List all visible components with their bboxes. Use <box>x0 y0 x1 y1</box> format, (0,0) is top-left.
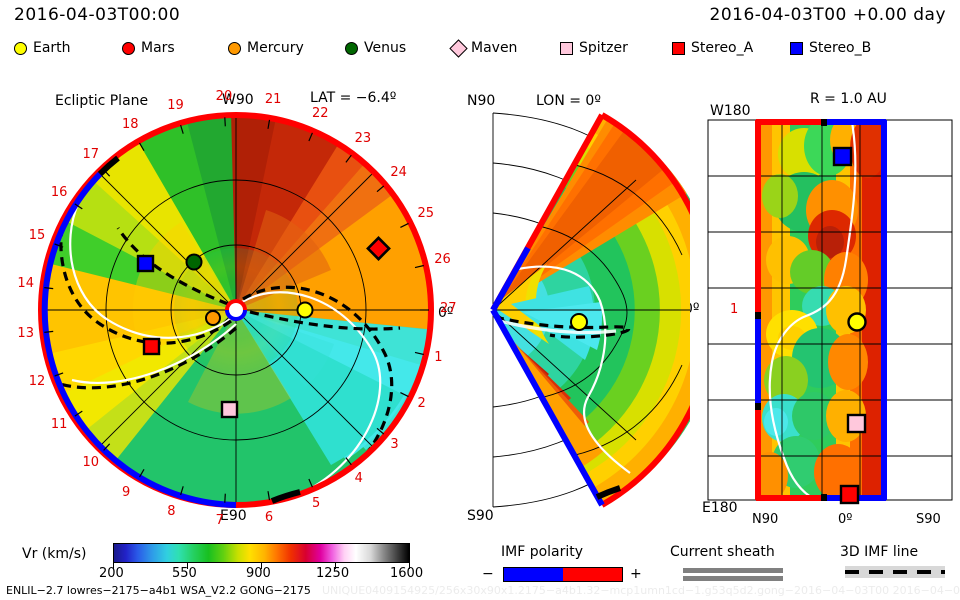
footer-watermark: UNIQUE0409154925/256x30x90x1.2175−a4b1.3… <box>322 584 960 597</box>
ecliptic-hour-label-20: 20 <box>216 89 233 104</box>
colorbar-tick-1: 550 <box>172 566 197 581</box>
spitzer-marker-icon <box>560 42 573 55</box>
imf-plus-label: + <box>630 566 642 582</box>
stereo-b-marker-icon <box>790 42 803 55</box>
header-datetime-left: 2016-04-03T00:00 <box>14 5 180 25</box>
legend-item-maven: Maven <box>452 40 517 56</box>
shell-body-spitzer <box>848 415 865 432</box>
shell-body-stereo-a <box>841 486 858 503</box>
colorbar-tick-4: 1600 <box>390 566 423 581</box>
ecliptic-hour-label-3: 3 <box>390 437 398 452</box>
legend-item-earth: Earth <box>14 40 71 56</box>
imf-polarity-title: IMF polarity <box>501 544 583 560</box>
ecliptic-hour-label-12: 12 <box>29 374 46 389</box>
ecliptic-hour-label-11: 11 <box>51 417 68 432</box>
imf-line-title: 3D IMF line <box>840 544 918 560</box>
imf-polarity-bar <box>503 567 623 582</box>
mars-marker-icon <box>122 42 135 55</box>
legend-item-mars: Mars <box>122 40 175 56</box>
imf-positive-swatch <box>563 568 622 581</box>
imf-negative-swatch <box>504 568 563 581</box>
ecliptic-hour-label-27: 27 <box>440 301 457 316</box>
legend-item-stereo-b: Stereo_B <box>790 40 871 56</box>
ecliptic-hour-label-4: 4 <box>355 471 363 486</box>
ecliptic-hour-label-23: 23 <box>355 131 372 146</box>
legend-label-stereo-b: Stereo_B <box>809 40 871 56</box>
current-sheath-title: Current sheath <box>670 544 775 560</box>
legend-label-spitzer: Spitzer <box>579 40 628 56</box>
legend-item-spitzer: Spitzer <box>560 40 628 56</box>
body-earth <box>298 303 313 318</box>
ecliptic-plane-plot <box>0 80 460 530</box>
shell-xlabel-n90: N90 <box>752 512 778 527</box>
maven-marker-icon <box>449 39 467 57</box>
ecliptic-hour-label-14: 14 <box>17 276 34 291</box>
ecliptic-hour-label-7: 7 <box>216 513 224 528</box>
ecliptic-hour-label-9: 9 <box>122 485 130 500</box>
header-datetime-right: 2016-04-03T00 +0.00 day <box>710 5 946 25</box>
mercury-marker-icon <box>228 42 241 55</box>
stereo-a-marker-icon <box>672 42 685 55</box>
imf-minus-label: − <box>482 566 494 582</box>
ecliptic-hour-label-10: 10 <box>83 455 100 470</box>
body-stereo-b <box>138 256 153 271</box>
colorbar-label: Vr (km/s) <box>22 546 86 562</box>
ecliptic-hour-label-6: 6 <box>265 510 273 525</box>
body-stereo-a <box>144 339 159 354</box>
earth-marker-icon <box>14 42 27 55</box>
legend-label-earth: Earth <box>33 40 71 56</box>
ecliptic-hour-label-21: 21 <box>265 92 282 107</box>
colorbar <box>113 543 410 563</box>
footer-model-info: ENLIL−2.7 lowres−2175−a4b1 WSA_V2.2 GONG… <box>6 584 311 597</box>
sun-marker <box>225 299 247 321</box>
ecliptic-hour-label-15: 15 <box>29 228 46 243</box>
legend-label-mars: Mars <box>141 40 175 56</box>
ecliptic-hour-label-13: 13 <box>17 326 34 341</box>
body-spitzer <box>222 402 237 417</box>
ecliptic-hour-label-16: 16 <box>51 185 68 200</box>
legend-item-stereo-a: Stereo_A <box>672 40 753 56</box>
ecliptic-hour-label-26: 26 <box>434 252 451 267</box>
shell-body-stereo-b <box>834 148 851 165</box>
shell-plot <box>700 110 960 510</box>
legend-item-venus: Venus <box>345 40 406 56</box>
shell-xlabel-zero: 0º <box>838 512 852 527</box>
shell-xlabel-s90: S90 <box>916 512 941 527</box>
imf-line-swatch <box>845 566 945 578</box>
ecliptic-hour-label-22: 22 <box>312 106 329 121</box>
body-mercury <box>206 311 220 325</box>
meridional-heatmap-field <box>480 105 690 515</box>
shell-body-earth <box>849 314 866 331</box>
legend-label-mercury: Mercury <box>247 40 304 56</box>
colorbar-tick-0: 200 <box>99 566 124 581</box>
ecliptic-hour-label-8: 8 <box>167 504 175 519</box>
colorbar-tick-2: 900 <box>246 566 271 581</box>
ecliptic-hour-label-2: 2 <box>417 396 425 411</box>
ecliptic-hour-label-1: 1 <box>434 350 442 365</box>
ecliptic-hour-label-24: 24 <box>390 165 407 180</box>
legend-label-venus: Venus <box>364 40 406 56</box>
shell-heatmap-field <box>752 114 886 500</box>
ecliptic-hour-label-19: 19 <box>167 98 184 113</box>
ecliptic-hour-label-25: 25 <box>417 206 434 221</box>
shell-title: R = 1.0 AU <box>810 91 887 107</box>
current-sheath-swatch <box>683 568 783 581</box>
venus-marker-icon <box>345 42 358 55</box>
colorbar-tick-3: 1250 <box>316 566 349 581</box>
ecliptic-hour-label-5: 5 <box>312 496 320 511</box>
legend-label-stereo-a: Stereo_A <box>691 40 753 56</box>
body-venus <box>187 255 202 270</box>
ecliptic-hour-label-17: 17 <box>83 147 100 162</box>
legend-item-mercury: Mercury <box>228 40 304 56</box>
meridional-body-earth <box>571 314 587 330</box>
ecliptic-hour-label-18: 18 <box>122 117 139 132</box>
legend-label-maven: Maven <box>471 40 517 56</box>
meridional-plane-plot <box>460 105 690 515</box>
